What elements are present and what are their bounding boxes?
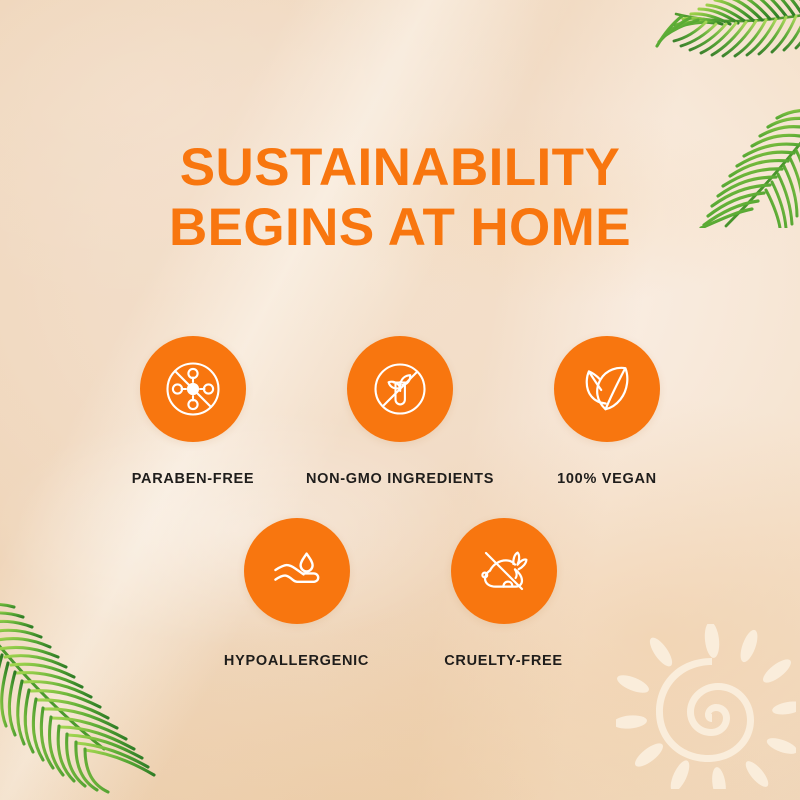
badge-circle — [244, 518, 350, 624]
badge-paraben-free: PARABEN-FREE — [140, 336, 246, 487]
badge-circle — [451, 518, 557, 624]
badge-circle — [554, 336, 660, 442]
badge-label: CRUELTY-FREE — [444, 653, 563, 669]
page-title: SUSTAINABILITY BEGINS AT HOME — [0, 138, 800, 258]
two-leaves-icon — [575, 357, 639, 421]
poster-canvas: SUSTAINABILITY BEGINS AT HOME — [0, 0, 800, 800]
badge-circle — [347, 336, 453, 442]
badge-label: 100% VEGAN — [557, 471, 657, 487]
badge-row-2: HYPOALLERGENIC — [0, 518, 800, 669]
badge-label: NON-GMO INGREDIENTS — [306, 471, 494, 487]
no-paraben-molecule-icon — [161, 357, 225, 421]
badge-label: PARABEN-FREE — [132, 471, 255, 487]
hand-with-droplet-icon — [265, 539, 329, 603]
badge-label: HYPOALLERGENIC — [224, 653, 369, 669]
no-rabbit-icon — [472, 539, 536, 603]
badge-vegan: 100% VEGAN — [554, 336, 660, 487]
badge-non-gmo: NON-GMO INGREDIENTS — [347, 336, 453, 487]
badge-hypoallergenic: HYPOALLERGENIC — [244, 518, 350, 669]
badge-circle — [140, 336, 246, 442]
badge-cruelty-free: CRUELTY-FREE — [451, 518, 557, 669]
page-title-line-2: BEGINS AT HOME — [0, 198, 800, 258]
no-gmo-test-tube-sprout-icon — [368, 357, 432, 421]
page-title-line-1: SUSTAINABILITY — [0, 138, 800, 198]
badge-grid: PARABEN-FREE — [0, 336, 800, 669]
badge-row-1: PARABEN-FREE — [0, 336, 800, 487]
